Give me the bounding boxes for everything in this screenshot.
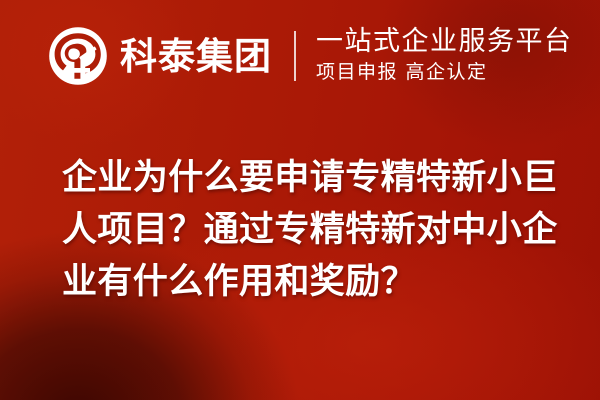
banner-header: 科泰集团 一站式企业服务平台 项目申报 高企认定	[0, 0, 600, 112]
promo-banner: 科泰集团 一站式企业服务平台 项目申报 高企认定 企业为什么要申请专精特新小巨 …	[0, 0, 600, 400]
tagline-primary: 一站式企业服务平台	[316, 27, 573, 57]
header-divider	[294, 31, 296, 81]
headline-line-2: 人项目？通过专精特新对中小企	[62, 204, 574, 256]
headline: 企业为什么要申请专精特新小巨 人项目？通过专精特新对中小企 业有什么作用和奖励？	[62, 152, 574, 308]
ketai-circle-logo-icon	[48, 26, 108, 86]
tagline-block: 一站式企业服务平台 项目申报 高企认定	[316, 27, 573, 85]
brand-name: 科泰集团	[120, 38, 272, 75]
headline-line-1: 企业为什么要申请专精特新小巨	[62, 152, 574, 204]
tagline-secondary: 项目申报 高企认定	[316, 60, 573, 85]
brand-lockup[interactable]: 科泰集团	[48, 26, 272, 86]
headline-line-3: 业有什么作用和奖励？	[62, 256, 574, 308]
